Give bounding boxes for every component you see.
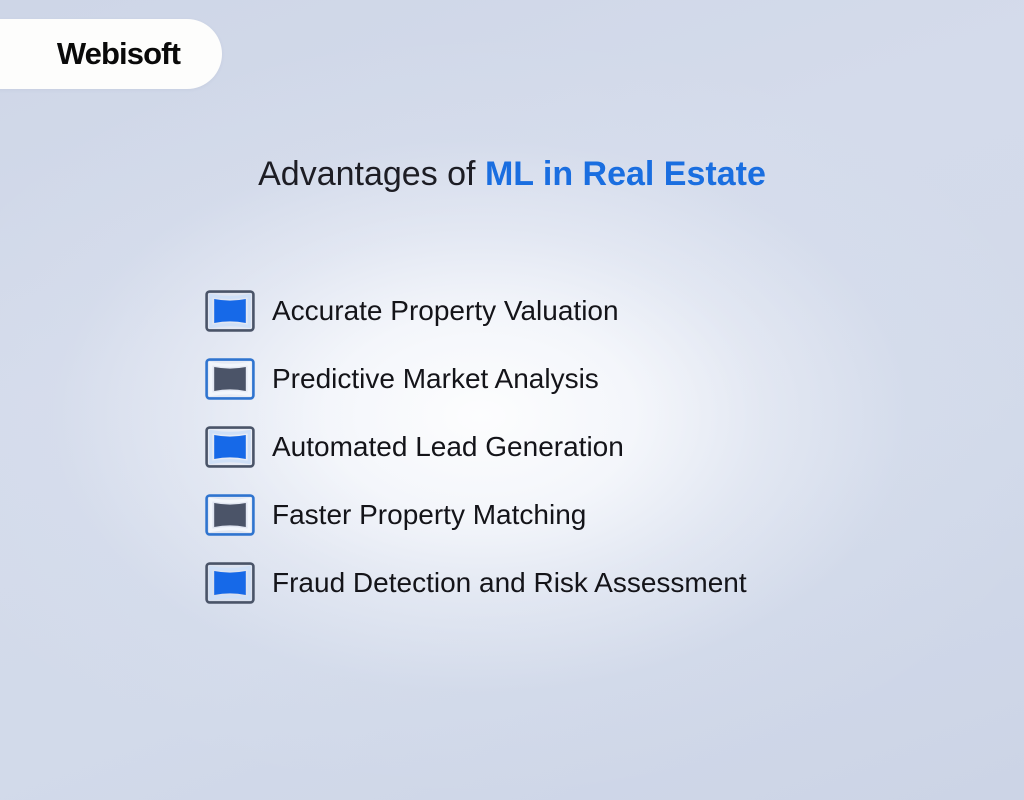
shield-badge-icon	[205, 426, 255, 468]
shield-badge-icon	[205, 358, 255, 400]
brand-name: Webisoft	[57, 36, 180, 72]
list-item[interactable]: Automated Lead Generation	[205, 422, 965, 472]
slide-canvas: Webisoft Advantages of ML in Real Estate…	[0, 0, 1024, 800]
shield-badge-icon	[205, 494, 255, 536]
list-item-label: Predictive Market Analysis	[272, 362, 599, 396]
list-item[interactable]: Faster Property Matching	[205, 490, 965, 540]
list-item[interactable]: Accurate Property Valuation	[205, 286, 965, 336]
shield-badge-icon	[205, 290, 255, 332]
list-item-label: Automated Lead Generation	[272, 430, 624, 464]
shield-badge-icon	[205, 562, 255, 604]
list-item[interactable]: Fraud Detection and Risk Assessment	[205, 558, 965, 608]
list-item-label: Accurate Property Valuation	[272, 294, 619, 328]
list-item-label: Faster Property Matching	[272, 498, 586, 532]
page-title-accent: ML in Real Estate	[485, 155, 766, 193]
advantages-list: Accurate Property Valuation Predictive M…	[205, 286, 965, 626]
list-item[interactable]: Predictive Market Analysis	[205, 354, 965, 404]
page-title-plain: Advantages of	[258, 155, 485, 193]
brand-logo-pill[interactable]: Webisoft	[0, 19, 222, 89]
list-item-label: Fraud Detection and Risk Assessment	[272, 566, 747, 600]
page-title: Advantages of ML in Real Estate	[0, 152, 1024, 196]
